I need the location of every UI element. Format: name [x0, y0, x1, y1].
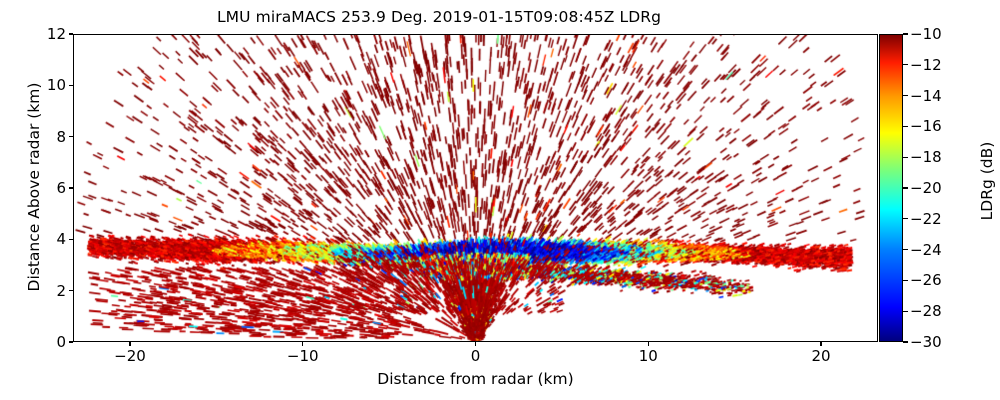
y-tick-mark — [69, 33, 73, 34]
colorbar-tick-label: −28 — [910, 302, 942, 320]
y-axis-label: Distance Above radar (km) — [25, 57, 43, 317]
x-tick-label: −10 — [273, 347, 333, 365]
x-tick-mark — [129, 342, 130, 346]
x-tick-label: 0 — [446, 347, 506, 365]
colorbar-tick-mark — [903, 126, 908, 127]
colorbar-tick-mark — [903, 280, 908, 281]
y-tick-label: 12 — [22, 25, 66, 43]
colorbar-tick-label: −14 — [910, 87, 942, 105]
colorbar-tick-label: −20 — [910, 179, 942, 197]
x-tick-mark — [302, 342, 303, 346]
x-tick-mark — [475, 342, 476, 346]
colorbar-tick-mark — [903, 33, 908, 34]
colorbar-tick-mark — [903, 218, 908, 219]
y-tick-label: 0 — [22, 333, 66, 351]
scatter-data-layer — [74, 35, 877, 341]
colorbar-tick-label: −12 — [910, 56, 942, 74]
colorbar-tick-mark — [903, 249, 908, 250]
y-tick-mark — [69, 239, 73, 240]
colorbar-tick-label: −10 — [910, 25, 942, 43]
y-tick-mark — [69, 187, 73, 188]
colorbar-tick-mark — [903, 95, 908, 96]
colorbar-tick-label: −26 — [910, 271, 942, 289]
y-tick-mark — [69, 290, 73, 291]
y-tick-mark — [69, 341, 73, 342]
y-tick-mark — [69, 136, 73, 137]
x-tick-label: −20 — [100, 347, 160, 365]
colorbar-tick-mark — [903, 341, 908, 342]
colorbar-gradient — [879, 34, 903, 342]
x-tick-mark — [648, 342, 649, 346]
x-tick-label: 20 — [791, 347, 851, 365]
colorbar-tick-label: −30 — [910, 333, 942, 351]
y-tick-mark — [69, 85, 73, 86]
x-tick-mark — [820, 342, 821, 346]
colorbar-tick-mark — [903, 64, 908, 65]
colorbar-tick-mark — [903, 311, 908, 312]
x-tick-label: 10 — [618, 347, 678, 365]
figure-canvas: LMU miraMACS 253.9 Deg. 2019-01-15T09:08… — [0, 0, 1000, 400]
colorbar-tick-label: −22 — [910, 210, 942, 228]
plot-axes-area — [73, 34, 878, 342]
x-axis-label: Distance from radar (km) — [73, 370, 878, 388]
colorbar-tick-mark — [903, 187, 908, 188]
colorbar-tick-label: −16 — [910, 117, 942, 135]
colorbar-tick-label: −18 — [910, 148, 942, 166]
chart-title: LMU miraMACS 253.9 Deg. 2019-01-15T09:08… — [0, 8, 878, 26]
colorbar-label: LDRg (dB) — [978, 66, 996, 296]
colorbar-tick-label: −24 — [910, 241, 942, 259]
colorbar-tick-mark — [903, 157, 908, 158]
